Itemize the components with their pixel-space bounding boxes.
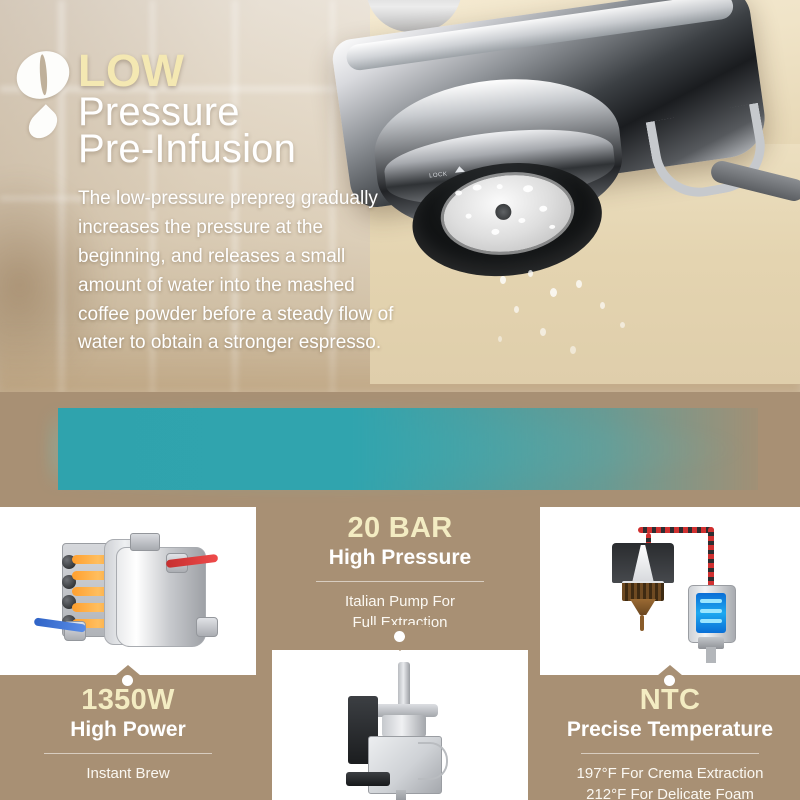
divider: [44, 753, 212, 754]
hero-title: LOW Pressure Pre-Infusion: [78, 48, 296, 169]
pump-wire: [418, 742, 448, 780]
feature-image-pressure: [272, 650, 528, 800]
ntc-tube-vertical: [708, 527, 714, 589]
feature-power-value: 1350W: [0, 685, 256, 717]
feature-pressure-value: 20 BAR: [272, 513, 528, 545]
italian-pump-image: [340, 662, 470, 798]
pump-outlet: [396, 790, 406, 800]
pointer-dot: [394, 631, 405, 642]
espresso-boiler-image: [38, 525, 218, 657]
boiler-fitting: [196, 617, 218, 637]
feature-temperature-desc-2: 212°F For Delicate Foam: [540, 784, 800, 800]
feature-temperature-value: NTC: [540, 685, 800, 717]
feature-text-power: 1350W High Power Instant Brew: [0, 685, 256, 784]
feature-image-temperature: [540, 507, 800, 675]
feature-pressure-desc-1: Italian Pump For: [272, 591, 528, 612]
features-section: 1350W High Power Instant Brew 20 BAR Hig…: [0, 505, 800, 800]
hero-paragraph: The low-pressure prepreg gradually incre…: [78, 185, 408, 358]
ntc-tube-horizontal: [638, 527, 714, 533]
hero-section: LOCK: [0, 0, 800, 392]
hero-title-accent: LOW: [78, 48, 296, 94]
portafilter: [612, 543, 674, 583]
banner-section: [0, 392, 800, 505]
coffee-drip: [640, 615, 644, 631]
feature-image-power: [0, 507, 256, 675]
hero-title-line3: Pre-Infusion: [78, 129, 296, 170]
ntc-sensor-core: [696, 593, 726, 633]
ntc-sensor-rod: [706, 647, 716, 663]
divider: [581, 753, 759, 754]
divider: [316, 581, 484, 582]
feature-temperature-desc-1: 197°F For Crema Extraction: [540, 763, 800, 784]
infographic-page: LOCK: [0, 0, 800, 800]
pump-shaft: [398, 662, 410, 708]
pump-foot: [346, 772, 390, 786]
group-head: LOCK: [368, 68, 634, 293]
coffee-bean-icon: [9, 42, 78, 107]
boiler-top-fitting: [130, 533, 160, 551]
feature-power-desc: Instant Brew: [0, 763, 256, 784]
coffee-basket: [622, 581, 664, 601]
pump-neck: [382, 715, 426, 737]
ntc-sensor-image: [602, 521, 752, 663]
feature-temperature-label: Precise Temperature: [540, 718, 800, 742]
portafilter-spout: [630, 599, 656, 615]
water-spray: [480, 266, 680, 386]
water-droplet-icon: [23, 104, 63, 144]
pre-infusion-icon-group: [16, 52, 70, 152]
feature-text-pressure: 20 BAR High Pressure Italian Pump For Fu…: [272, 513, 528, 634]
feature-pressure-label: High Pressure: [272, 546, 528, 570]
feature-power-label: High Power: [0, 718, 256, 742]
feature-text-temperature: NTC Precise Temperature 197°F For Crema …: [540, 685, 800, 800]
banner-highlight-bar: [58, 408, 758, 490]
